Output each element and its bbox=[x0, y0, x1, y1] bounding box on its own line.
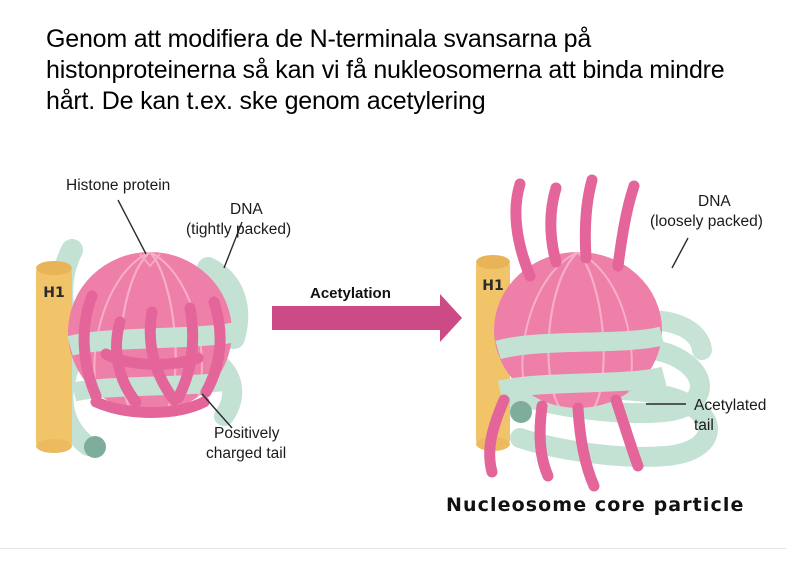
label-positively-charged-tail-line1: Positively bbox=[214, 425, 280, 442]
left-nucleosome-group: H1 bbox=[36, 177, 291, 462]
bottom-divider bbox=[0, 548, 786, 549]
page-title: Genom att modifiera de N-terminala svans… bbox=[46, 24, 766, 117]
teal-terminal-dot-left bbox=[84, 436, 106, 458]
title-line-1: Genom att modifiera de N-terminala svans… bbox=[46, 24, 766, 55]
label-acetylated-tail-line1: Acetylated bbox=[694, 397, 766, 414]
nucleosome-core-particle-caption: Nucleosome core particle bbox=[446, 494, 744, 516]
label-acetylated-tail-line2: tail bbox=[694, 417, 714, 434]
right-nucleosome-group: H1 bbox=[476, 180, 766, 486]
label-positively-charged-tail-line2: charged tail bbox=[206, 445, 286, 462]
label-dna-tightly-packed-line2: (tightly packed) bbox=[186, 221, 291, 238]
h1-label-right: H1 bbox=[482, 278, 503, 294]
acetylation-arrow-group: Acetylation bbox=[272, 285, 462, 342]
label-histone-protein: Histone protein bbox=[66, 177, 170, 194]
slide-canvas: Genom att modifiera de N-terminala svans… bbox=[0, 0, 786, 564]
acetylation-arrow-label: Acetylation bbox=[310, 285, 391, 302]
h1-label-left: H1 bbox=[43, 285, 64, 301]
label-dna-tightly-packed-line1: DNA bbox=[230, 201, 263, 218]
teal-terminal-dot-right bbox=[510, 401, 532, 423]
title-line-3: hårt. De kan t.ex. ske genom acetylering bbox=[46, 86, 766, 117]
h1-cylinder-left: H1 bbox=[36, 261, 72, 453]
nucleosome-acetylation-diagram: H1 bbox=[0, 150, 786, 546]
label-dna-loosely-packed-line2: (loosely packed) bbox=[650, 213, 763, 230]
title-line-2: histonproteinerna så kan vi få nukleosom… bbox=[46, 55, 766, 86]
label-dna-loosely-packed-line1: DNA bbox=[698, 193, 731, 210]
